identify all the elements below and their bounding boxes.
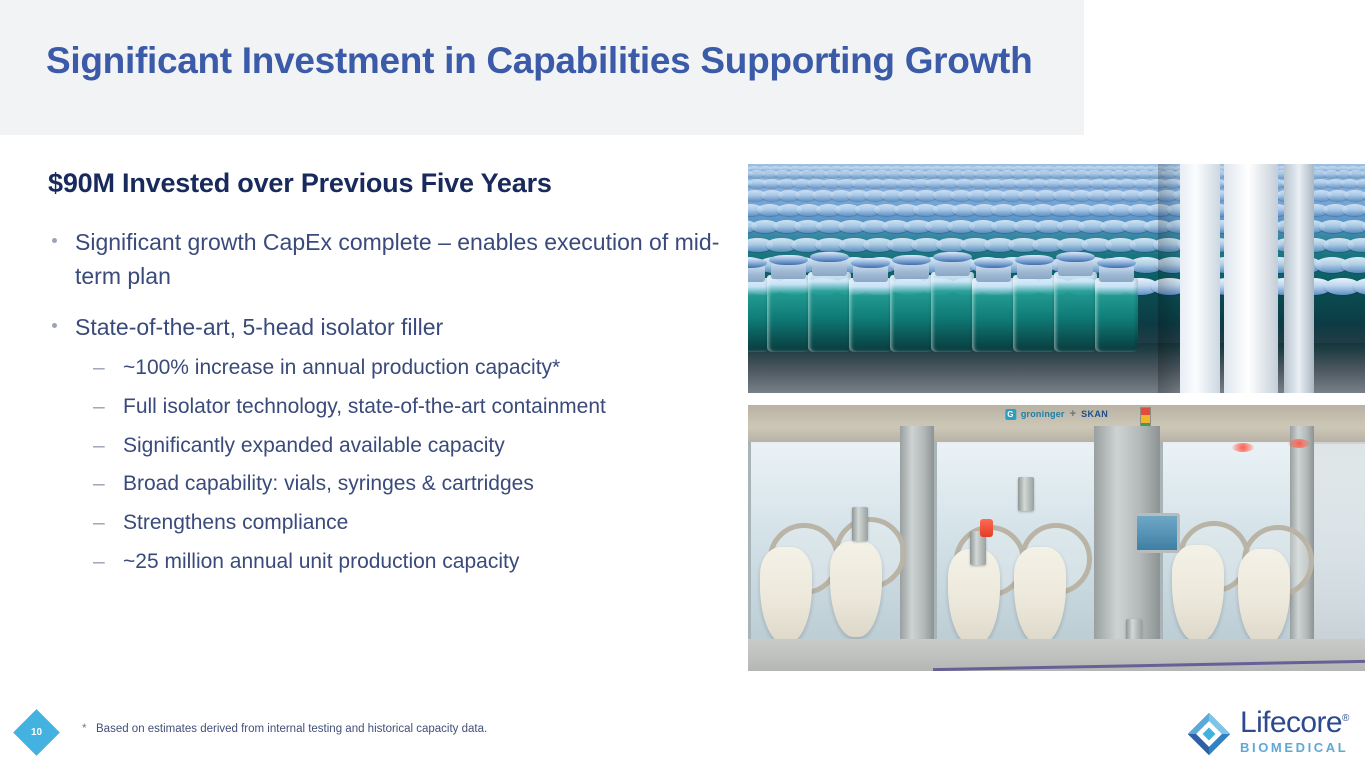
- sub-bullet-text: Broad capability: vials, syringes & cart…: [123, 472, 534, 495]
- lifecore-logo: Lifecore® BIOMEDICAL: [1186, 707, 1356, 757]
- floor-stripe: [933, 660, 1365, 671]
- sub-list-item: – Full isolator technology, state-of-the…: [86, 393, 728, 421]
- conveyor-rail: [1224, 164, 1278, 393]
- sub-bullet-text: ~25 million annual unit production capac…: [123, 550, 519, 573]
- sub-bullet-list: – ~100% increase in annual production ca…: [86, 354, 728, 575]
- vial: [1054, 272, 1097, 352]
- sub-bullet-text: Strengthens compliance: [123, 511, 348, 534]
- photo-isolator: G groninger + SKAN: [748, 405, 1365, 671]
- footnote: *Based on estimates derived from interna…: [82, 723, 487, 735]
- dash-icon: –: [93, 470, 105, 498]
- registered-mark: ®: [1342, 713, 1349, 724]
- vial: [808, 272, 851, 352]
- brand-skan-label: SKAN: [1081, 409, 1108, 419]
- page-number: 10: [20, 716, 53, 749]
- vial: [972, 278, 1015, 352]
- lifecore-wordmark: Lifecore® BIOMEDICAL: [1240, 708, 1349, 755]
- brand-groninger-label: groninger: [1021, 409, 1065, 419]
- page-number-badge: 10: [13, 709, 60, 756]
- dash-icon: –: [93, 354, 105, 382]
- bullet-dot-icon: [52, 238, 57, 243]
- sub-bullet-text: Significantly expanded available capacit…: [123, 434, 505, 457]
- sub-bullet-text: Full isolator technology, state-of-the-a…: [123, 395, 606, 418]
- vial: [1095, 278, 1138, 352]
- sub-list-item: – ~100% increase in annual production ca…: [86, 354, 728, 382]
- cleanroom-floor: [748, 639, 1365, 671]
- vial: [931, 272, 974, 352]
- vial: [767, 275, 810, 352]
- vial: [748, 278, 769, 352]
- sub-list-item: – ~25 million annual unit production cap…: [86, 548, 728, 576]
- dash-icon: –: [93, 393, 105, 421]
- isolator-hinge: [1018, 477, 1034, 511]
- footnote-marker: *: [82, 723, 96, 735]
- brand-separator: +: [1070, 408, 1076, 420]
- list-item: Significant growth CapEx complete – enab…: [48, 225, 728, 293]
- bullet-dot-icon: [52, 323, 57, 328]
- vial: [890, 275, 933, 352]
- footnote-text: Based on estimates derived from internal…: [96, 723, 487, 735]
- machine-brand-strip: G groninger + SKAN: [1005, 408, 1108, 420]
- logo-word-text: Lifecore: [1240, 706, 1342, 739]
- list-item: State-of-the-art, 5-head isolator filler…: [48, 310, 728, 575]
- vial: [849, 278, 892, 352]
- sub-bullet-text: ~100% increase in annual production capa…: [123, 356, 560, 379]
- conveyor-rail: [1284, 164, 1314, 393]
- status-light-icon: [1232, 443, 1254, 452]
- sub-list-item: – Significantly expanded available capac…: [86, 432, 728, 460]
- status-light-icon: [1288, 439, 1310, 448]
- logo-subtitle: BIOMEDICAL: [1240, 740, 1349, 755]
- hmi-touchscreen: [1134, 513, 1180, 553]
- page-title: Significant Investment in Capabilities S…: [46, 40, 1032, 82]
- content-column-left: $90M Invested over Previous Five Years S…: [48, 168, 728, 592]
- dash-icon: –: [93, 509, 105, 537]
- isolator-hinge: [852, 507, 868, 541]
- bullet-text: Significant growth CapEx complete – enab…: [75, 229, 719, 289]
- title-band: Significant Investment in Capabilities S…: [0, 0, 1084, 135]
- section-subheading: $90M Invested over Previous Five Years: [48, 168, 728, 199]
- photo-vials: [748, 164, 1365, 393]
- bullet-list: Significant growth CapEx complete – enab…: [48, 225, 728, 575]
- vial-cap: [1355, 179, 1365, 188]
- groninger-logo-icon: G: [1005, 409, 1016, 420]
- lifecore-diamond-icon: [1186, 711, 1232, 757]
- conveyor-rail: [1180, 164, 1220, 393]
- sub-list-item: – Strengthens compliance: [86, 509, 728, 537]
- bullet-text: State-of-the-art, 5-head isolator filler: [75, 314, 443, 340]
- sub-list-item: – Broad capability: vials, syringes & ca…: [86, 470, 728, 498]
- logo-word: Lifecore®: [1240, 708, 1349, 738]
- emergency-stop-icon: [980, 519, 993, 537]
- vial: [1013, 275, 1056, 352]
- dash-icon: –: [93, 548, 105, 576]
- dash-icon: –: [93, 432, 105, 460]
